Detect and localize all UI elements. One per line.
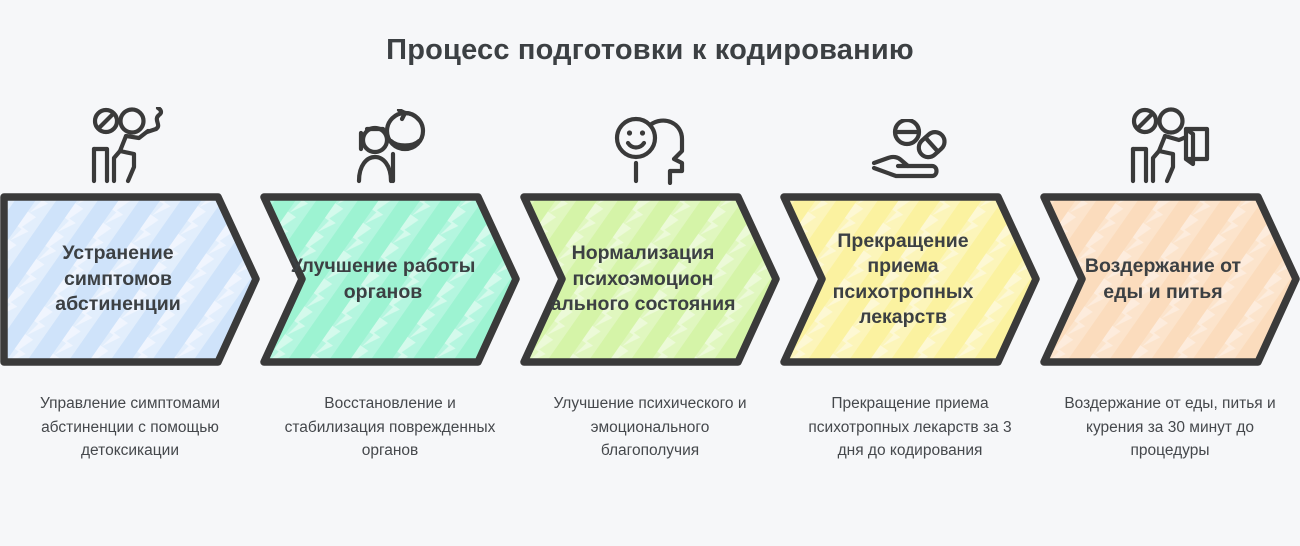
chevron-shape-2 bbox=[260, 192, 528, 367]
step-caption-5: Воздержание от еды, питья и курения за 3… bbox=[1040, 392, 1300, 463]
process-step-2[interactable]: Улучшение работы органов Восстановление … bbox=[260, 100, 520, 540]
process-step-1[interactable]: Устранение симптомов абстиненции Управле… bbox=[0, 100, 260, 540]
page-title: Процесс подготовки к кодированию bbox=[0, 34, 1300, 67]
person-recovery-arrow-icon bbox=[260, 100, 520, 185]
process-step-4[interactable]: Прекращение приема психотропных лекарств… bbox=[780, 100, 1040, 540]
infographic-canvas: Процесс подготовки к кодированию bbox=[0, 0, 1300, 546]
step-caption-1: Управление симптомами абстиненции с помо… bbox=[0, 392, 260, 463]
chevron-banner-5[interactable]: Воздержание от еды и питья bbox=[1040, 192, 1300, 367]
chevron-banner-2[interactable]: Улучшение работы органов bbox=[260, 192, 528, 367]
chevron-shape-4 bbox=[780, 192, 1048, 367]
chevron-shape-3 bbox=[520, 192, 788, 367]
process-step-3[interactable]: Нормализация психоэмоцион ального состоя… bbox=[520, 100, 780, 540]
step-caption-4: Прекращение приема психотропных лекарств… bbox=[780, 392, 1040, 463]
no-smoking-person-icon bbox=[0, 100, 260, 185]
chevron-banner-4[interactable]: Прекращение приема психотропных лекарств bbox=[780, 192, 1048, 367]
chevron-banner-3[interactable]: Нормализация психоэмоцион ального состоя… bbox=[520, 192, 788, 367]
process-steps: Устранение симптомов абстиненции Управле… bbox=[0, 100, 1300, 540]
step-caption-2: Восстановление и стабилизация поврежденн… bbox=[260, 392, 520, 463]
hand-pills-icon bbox=[780, 100, 1040, 185]
chevron-shape-1 bbox=[0, 192, 268, 367]
chevron-banner-1[interactable]: Устранение симптомов абстиненции bbox=[0, 192, 268, 367]
no-food-drink-person-icon bbox=[1040, 100, 1300, 185]
chevron-shape-5 bbox=[1040, 192, 1300, 367]
step-caption-3: Улучшение психического и эмоционального … bbox=[520, 392, 780, 463]
head-smiley-icon bbox=[520, 100, 780, 185]
process-step-5[interactable]: Воздержание от еды и питья Воздержание о… bbox=[1040, 100, 1300, 540]
